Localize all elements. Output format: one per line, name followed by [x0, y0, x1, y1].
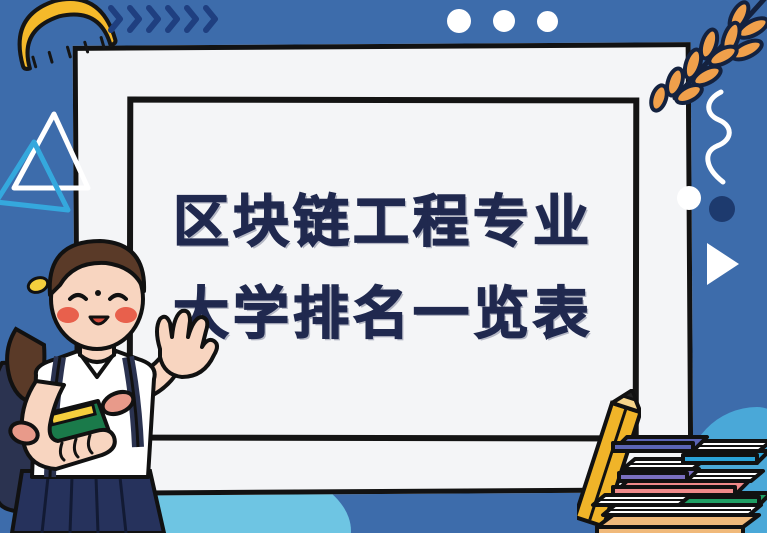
chevron-right-icon [165, 4, 181, 34]
dot-icon [493, 10, 515, 32]
leaf-branch-icon [631, 0, 767, 114]
chevron-right-icon [184, 4, 200, 34]
play-triangle-icon [707, 243, 739, 285]
dot-icon [537, 11, 558, 32]
chevron-right-icon [203, 4, 219, 34]
dot-icon [447, 9, 471, 33]
chevron-arrows [108, 4, 219, 34]
chevron-right-icon [146, 4, 162, 34]
chevron-right-icon [127, 4, 143, 34]
chevron-right-icon [108, 4, 124, 34]
schoolgirl-illustration [0, 233, 226, 533]
stacked-books [583, 407, 767, 533]
triangle-outlines [0, 92, 102, 252]
poster-canvas: 区块链工程专业 大学排名一览表 [0, 0, 767, 533]
white-circle-icon [677, 186, 701, 210]
white-dots [447, 9, 558, 33]
navy-circle-icon [709, 196, 735, 222]
